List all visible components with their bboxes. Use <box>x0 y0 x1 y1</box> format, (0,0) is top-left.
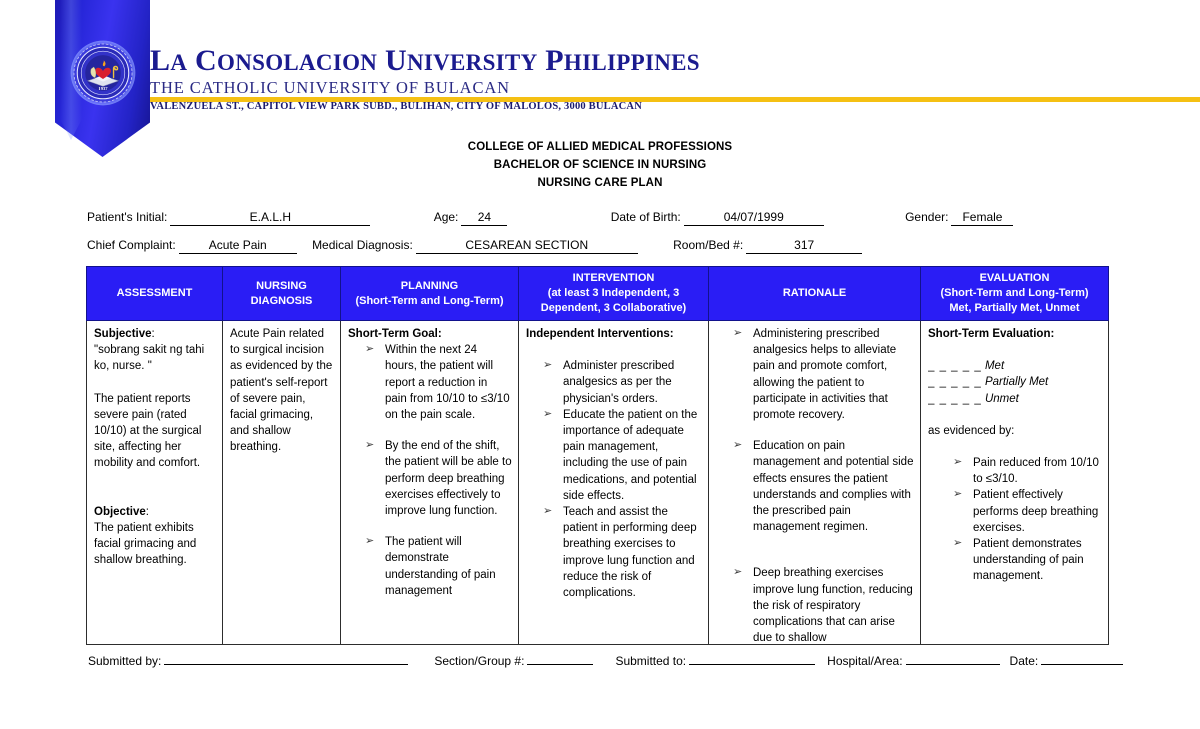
objective-text: The patient exhibits facial grimacing an… <box>94 520 216 569</box>
subjective-block: Subjective: "sobrang sakit ng tahi ko, n… <box>94 326 216 375</box>
seal-icon: 1937 <box>70 40 136 106</box>
list-item: Education on pain management and potenti… <box>733 438 914 535</box>
column-header-intervention: INTERVENTION (at least 3 Independent, 3 … <box>519 267 709 321</box>
patient-age-field: Age:24 <box>434 210 508 226</box>
cell-rationale[interactable]: Administering prescribed analgesics help… <box>709 321 921 645</box>
patient-info-row-2: Chief Complaint:Acute Pain Medical Diagn… <box>87 238 1117 266</box>
patient-dob-field: Date of Birth:04/07/1999 <box>611 210 824 226</box>
university-tagline: THE CATHOLIC UNIVERSITY OF BULACAN <box>150 80 1190 97</box>
hospital-area-input[interactable] <box>906 664 1000 665</box>
cell-assessment[interactable]: Subjective: "sobrang sakit ng tahi ko, n… <box>87 321 223 645</box>
list-item: Administer prescribed analgesics as per … <box>543 358 702 407</box>
spacer <box>94 375 216 391</box>
medical-diagnosis-field: Medical Diagnosis:CESAREAN SECTION <box>312 238 638 254</box>
chief-complaint-field: Chief Complaint:Acute Pain <box>87 238 297 254</box>
date-input[interactable] <box>1041 664 1123 665</box>
patient-information-section: Patient's Initial:E.A.L.H Age:24 Date of… <box>87 210 1117 266</box>
planning-goal-list: Within the next 24 hours, the patient wi… <box>348 342 512 599</box>
date-label: Date: <box>1010 654 1039 668</box>
patient-initial-value[interactable]: E.A.L.H <box>170 210 370 226</box>
evaluation-heading: Short-Term Evaluation: <box>928 326 1102 342</box>
rationale-list: Administering prescribed analgesics help… <box>716 326 914 644</box>
column-header-planning: PLANNING (Short-Term and Long-Term) <box>341 267 519 321</box>
header-line-2: (at least 3 Independent, 3 <box>522 286 705 301</box>
header-line-1: INTERVENTION <box>522 271 705 286</box>
patient-initial-field: Patient's Initial:E.A.L.H <box>87 210 370 226</box>
medical-diagnosis-label: Medical Diagnosis: <box>312 238 413 252</box>
patient-dob-value[interactable]: 04/07/1999 <box>684 210 824 226</box>
list-item: Teach and assist the patient in performi… <box>543 504 702 601</box>
header-line-1: EVALUATION <box>924 271 1105 286</box>
spacer <box>94 488 216 504</box>
option-label: Unmet <box>985 393 1019 405</box>
cell-nursing-diagnosis[interactable]: Acute Pain related to surgical incision … <box>223 321 341 645</box>
list-item: Educate the patient on the importance of… <box>543 407 702 504</box>
spacer <box>526 342 702 358</box>
submitted-to-label: Submitted to: <box>615 654 686 668</box>
column-header-assessment: ASSESSMENT <box>87 267 223 321</box>
header-line-1: RATIONALE <box>712 286 917 301</box>
header-line-2: (Short-Term and Long-Term) <box>344 294 515 309</box>
intervention-list: Administer prescribed analgesics as per … <box>526 358 702 601</box>
header-line-3: Met, Partially Met, Unmet <box>924 301 1105 316</box>
cell-planning[interactable]: Short-Term Goal: Within the next 24 hour… <box>341 321 519 645</box>
nursing-care-plan-table: ASSESSMENT NURSING DIAGNOSIS PLANNING (S… <box>86 266 1109 645</box>
column-header-rationale: RATIONALE <box>709 267 921 321</box>
chief-complaint-label: Chief Complaint: <box>87 238 176 252</box>
university-address: VALENZUELA ST., CAPITOL VIEW PARK SUBD.,… <box>150 101 642 112</box>
patient-age-label: Age: <box>434 210 459 224</box>
spacer <box>928 342 1102 358</box>
header-line-1: PLANNING <box>344 279 515 294</box>
spacer <box>94 472 216 488</box>
spacer <box>928 407 1102 423</box>
medical-diagnosis-value[interactable]: CESAREAN SECTION <box>416 238 638 254</box>
table-row: Subjective: "sobrang sakit ng tahi ko, n… <box>87 321 1109 645</box>
patient-info-row-1: Patient's Initial:E.A.L.H Age:24 Date of… <box>87 210 1117 238</box>
cell-evaluation[interactable]: Short-Term Evaluation: _ _ _ _ _ Met _ _… <box>921 321 1109 645</box>
blank-line: _ _ _ _ _ <box>928 393 982 405</box>
subjective-quote: "sobrang sakit ng tahi ko, nurse. " <box>94 342 216 374</box>
list-item: Pain reduced from 10/10 to ≤3/10. <box>953 455 1102 487</box>
list-item: Within the next 24 hours, the patient wi… <box>365 342 512 423</box>
college-name: COLLEGE OF ALLIED MEDICAL PROFESSIONS <box>0 138 1200 156</box>
spacer <box>928 439 1102 455</box>
header-line-2: DIAGNOSIS <box>226 294 337 309</box>
section-group-label: Section/Group #: <box>434 654 524 668</box>
patient-gender-value[interactable]: Female <box>951 210 1013 226</box>
evaluation-option-partially-met[interactable]: _ _ _ _ _ Partially Met <box>928 374 1102 390</box>
column-header-evaluation: EVALUATION (Short-Term and Long-Term) Me… <box>921 267 1109 321</box>
list-item: The patient will demonstrate understandi… <box>365 534 512 599</box>
list-item: Deep breathing exercises improve lung fu… <box>733 565 914 644</box>
room-bed-value[interactable]: 317 <box>746 238 862 254</box>
signature-footer-row: Submitted by:Section/Group #:Submitted t… <box>88 654 1118 668</box>
document-title: NURSING CARE PLAN <box>0 174 1200 192</box>
header-line-1: ASSESSMENT <box>90 286 219 301</box>
patient-gender-label: Gender: <box>905 210 948 224</box>
header-line-3: Dependent, 3 Collaborative) <box>522 301 705 316</box>
room-bed-label: Room/Bed #: <box>673 238 743 252</box>
submitted-to-input[interactable] <box>689 664 815 665</box>
blank-line: _ _ _ _ _ <box>928 360 982 372</box>
table-header-row: ASSESSMENT NURSING DIAGNOSIS PLANNING (S… <box>87 267 1109 321</box>
option-label: Partially Met <box>985 376 1048 388</box>
submitted-by-label: Submitted by: <box>88 654 161 668</box>
letterhead-text-block: LA CONSOLACION UNIVERSITY PHILIPPINES TH… <box>150 46 1190 97</box>
objective-colon: : <box>146 506 149 518</box>
chief-complaint-value[interactable]: Acute Pain <box>179 238 297 254</box>
patient-age-value[interactable]: 24 <box>461 210 507 226</box>
university-name: LA CONSOLACION UNIVERSITY PHILIPPINES <box>150 46 1190 76</box>
evaluation-evidence-list: Pain reduced from 10/10 to ≤3/10. Patien… <box>928 455 1102 585</box>
seal-year-text: 1937 <box>98 86 108 91</box>
list-item: Patient demonstrates understanding of pa… <box>953 536 1102 585</box>
subjective-text: The patient reports severe pain (rated 1… <box>94 391 216 472</box>
patient-gender-field: Gender:Female <box>905 210 1013 226</box>
column-header-nursing-diagnosis: NURSING DIAGNOSIS <box>223 267 341 321</box>
evidence-label: as evidenced by: <box>928 423 1102 439</box>
list-item: Administering prescribed analgesics help… <box>733 326 914 423</box>
list-item: Patient effectively performs deep breath… <box>953 487 1102 536</box>
room-bed-field: Room/Bed #:317 <box>673 238 862 254</box>
intervention-heading: Independent Interventions: <box>526 326 702 342</box>
subjective-label: Subjective <box>94 328 152 340</box>
evaluation-option-unmet[interactable]: _ _ _ _ _ Unmet <box>928 391 1102 407</box>
program-name: BACHELOR OF SCIENCE IN NURSING <box>0 156 1200 174</box>
evaluation-option-met[interactable]: _ _ _ _ _ Met <box>928 358 1102 374</box>
option-label: Met <box>985 360 1004 372</box>
header-line-2: (Short-Term and Long-Term) <box>924 286 1105 301</box>
diagnosis-text: Acute Pain related to surgical incision … <box>230 326 334 456</box>
hospital-area-label: Hospital/Area: <box>827 654 902 668</box>
submitted-by-input[interactable] <box>164 664 408 665</box>
department-heading-block: COLLEGE OF ALLIED MEDICAL PROFESSIONS BA… <box>0 138 1200 192</box>
planning-heading: Short-Term Goal: <box>348 326 512 342</box>
university-seal-logo: 1937 <box>70 40 136 106</box>
section-group-input[interactable] <box>527 664 593 665</box>
objective-label: Objective <box>94 506 146 518</box>
cell-intervention[interactable]: Independent Interventions: Administer pr… <box>519 321 709 645</box>
blank-line: _ _ _ _ _ <box>928 376 982 388</box>
header-line-1: NURSING <box>226 279 337 294</box>
objective-block: Objective: The patient exhibits facial g… <box>94 504 216 569</box>
subjective-colon: : <box>152 328 155 340</box>
list-item: By the end of the shift, the patient wil… <box>365 438 512 519</box>
patient-dob-label: Date of Birth: <box>611 210 681 224</box>
patient-initial-label: Patient's Initial: <box>87 210 167 224</box>
